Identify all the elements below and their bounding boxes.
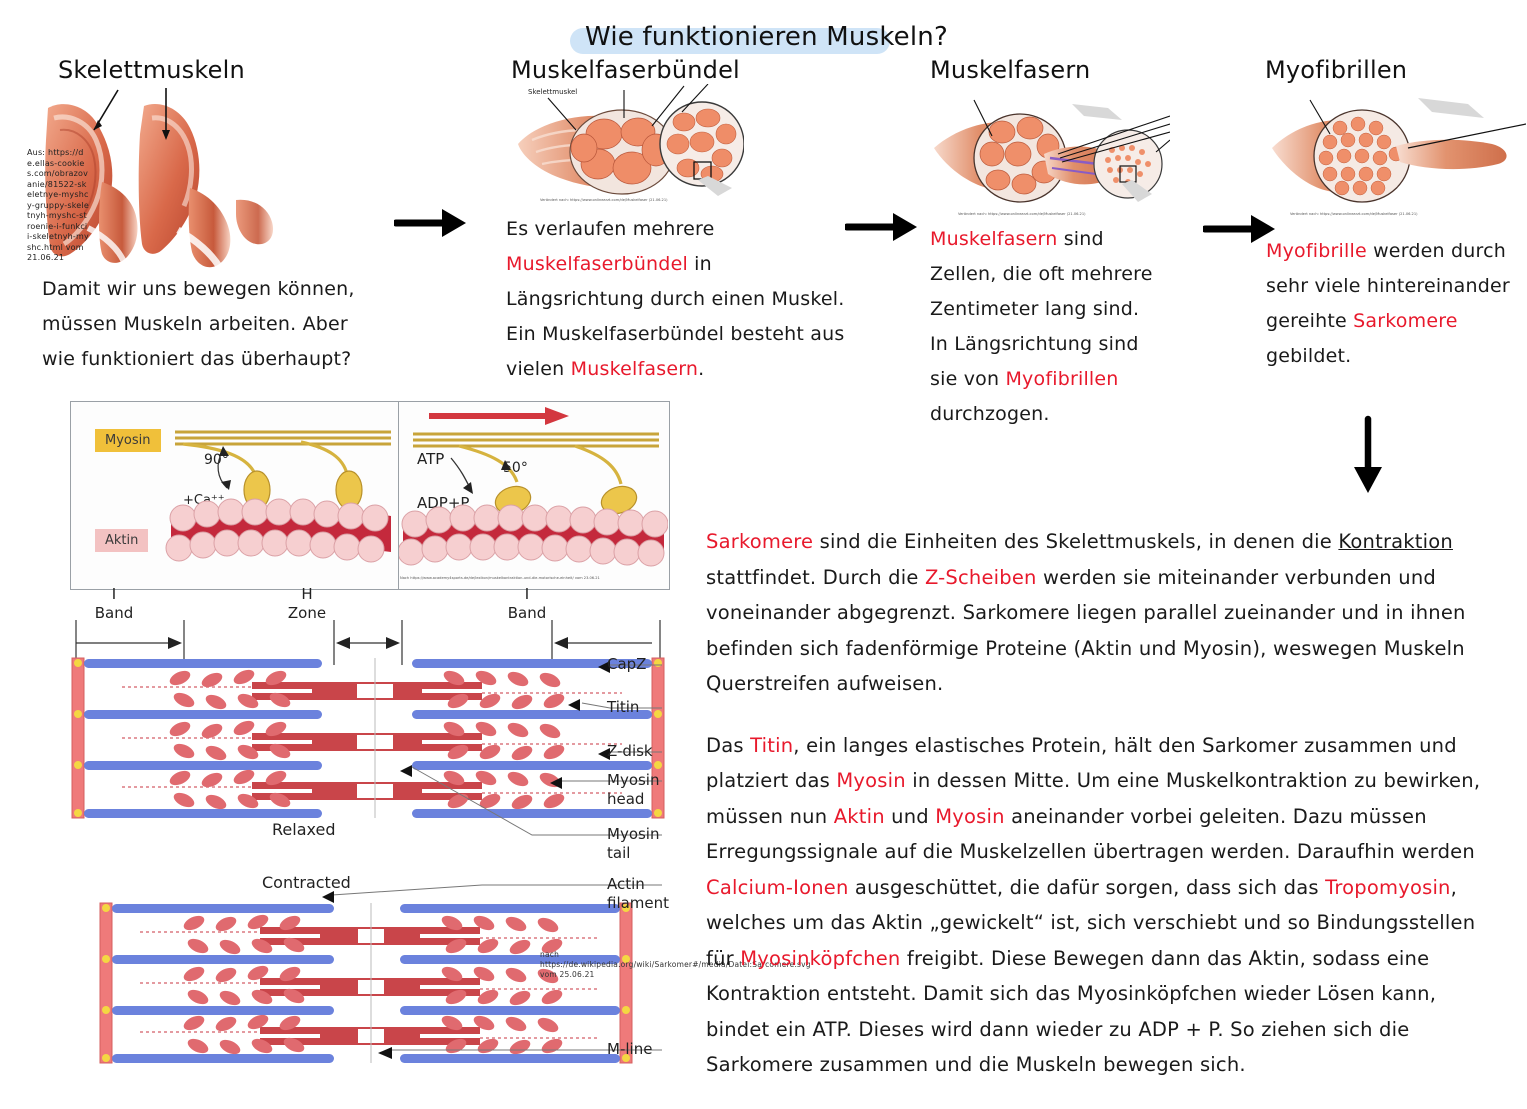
column-text-part: Damit wir uns bewegen können, müssen Mus…: [42, 278, 355, 370]
column-text-part: gebildet.: [1266, 345, 1351, 367]
term-myosin-2: Myosin: [935, 805, 1004, 828]
column-text-part-highlight: Muskelfasern: [571, 358, 698, 380]
paragraph-text: sind die Einheiten des Skelettmuskels, i…: [813, 530, 1338, 553]
explanation-paragraph-1: Sarkomere sind die Einheiten des Skelett…: [706, 524, 1496, 702]
source-citation-myofibrillen: Verändert nach: https://www.onlinearzt.c…: [1290, 212, 1418, 216]
callout-actin-filament: Actin filament: [607, 875, 682, 913]
column-text-part: sind Zellen, die oft mehrere Zentimeter …: [930, 228, 1153, 390]
column-text-part-highlight: Sarkomere: [1353, 310, 1458, 332]
column-text-myofibrillen: Myofibrille werden durch sehr viele hint…: [1266, 234, 1516, 374]
term-aktin: Aktin: [834, 805, 885, 828]
callout-myosin-tail: Myosin tail: [607, 825, 677, 863]
term-myosinkoepfchen: Myosinköpfchen: [740, 947, 900, 970]
term-kontraktion: Kontraktion: [1338, 530, 1453, 553]
crossbridge-panel-right: ATP ADP+P 50°: [399, 402, 668, 589]
callout-z-disk: Z-disk: [607, 742, 653, 761]
column-text-skelettmuskeln: Damit wir uns bewegen können, müssen Mus…: [42, 272, 372, 377]
state-label-relaxed: Relaxed: [272, 820, 335, 839]
page-title: Wie funktionieren Muskeln?: [585, 22, 948, 52]
flow-arrow-2: [845, 210, 919, 244]
column-text-part-highlight: Myofibrillen: [1005, 368, 1118, 390]
column-text-part: .: [698, 358, 704, 380]
term-sarkomere: Sarkomere: [706, 530, 813, 553]
column-heading-muskelfasern: Muskelfasern: [930, 56, 1090, 84]
label-skelettmuskel-inner: Skelettmuskel: [528, 88, 577, 96]
term-myosin: Myosin: [836, 769, 905, 792]
page-title-text: Wie funktionieren Muskeln?: [585, 22, 948, 52]
explanation-text-block: Sarkomere sind die Einheiten des Skelett…: [706, 524, 1496, 1109]
column-text-part-highlight: Myofibrille: [1266, 240, 1367, 262]
explanation-paragraph-2: Das Titin, ein langes elastisches Protei…: [706, 728, 1496, 1083]
column-heading-muskelfaserbuendel: Muskelfaserbündel: [511, 56, 740, 84]
callout-titin: Titin: [607, 698, 639, 717]
source-citation-muskelfaserbuendel: Verändert nach: https://www.onlinearzt.c…: [540, 198, 668, 202]
source-citation-crossbridge: Nach https://www.academy4sports.de/de/le…: [400, 576, 600, 580]
diagram-sarcomere: I Band H Zone I Band: [62, 585, 682, 1080]
column-text-part-highlight: Muskelfaserbündel: [506, 253, 688, 275]
column-text-muskelfaserbuendel: Es verlaufen mehrere Muskelfaserbündel i…: [506, 212, 856, 387]
callout-myosin-head: Myosin head: [607, 771, 677, 809]
column-text-part: durchzogen.: [930, 403, 1050, 425]
source-citation-muskelfasern: Verändert nach: https://www.onlinearzt.c…: [958, 212, 1086, 216]
term-calcium-ionen: Calcium-Ionen: [706, 876, 849, 899]
flow-arrow-down: [1340, 415, 1396, 497]
crossbridge-panel-left: Myosin Aktin 90° +Ca⁺⁺: [71, 402, 399, 589]
column-text-part-highlight: Muskelfasern: [930, 228, 1057, 250]
callout-m-line: M-line: [607, 1040, 652, 1059]
state-label-contracted: Contracted: [262, 873, 351, 892]
column-text-muskelfasern: Muskelfasern sind Zellen, die oft mehrer…: [930, 222, 1160, 432]
column-heading-myofibrillen: Myofibrillen: [1265, 56, 1407, 84]
column-text-part: Es verlaufen mehrere: [506, 218, 715, 240]
source-citation-sarcomere: nach https://de.wikipedia.org/wiki/Sarko…: [540, 950, 630, 980]
source-citation-skelettmuskeln: Aus: https://de.ellas-cookies.com/obrazo…: [27, 148, 89, 264]
term-titin: Titin: [750, 734, 793, 757]
paragraph-text: und: [885, 805, 936, 828]
paragraph-text: Das: [706, 734, 750, 757]
term-tropomyosin: Tropomyosin: [1325, 876, 1450, 899]
term-z-scheiben: Z-Scheiben: [925, 566, 1037, 589]
illustration-muscle-fibers: [932, 92, 1170, 217]
illustration-myofibrils: [1268, 94, 1526, 214]
callout-capz: CapZ: [607, 655, 646, 674]
paragraph-text: stattfindet. Durch die: [706, 566, 925, 589]
illustration-muscle-fiber-bundle: [512, 84, 744, 208]
paragraph-text: ausgeschüttet, die dafür sorgen, dass si…: [849, 876, 1326, 899]
flow-arrow-1: [394, 206, 468, 240]
diagram-crossbridge-cycle: Myosin Aktin 90° +Ca⁺⁺: [70, 401, 670, 590]
